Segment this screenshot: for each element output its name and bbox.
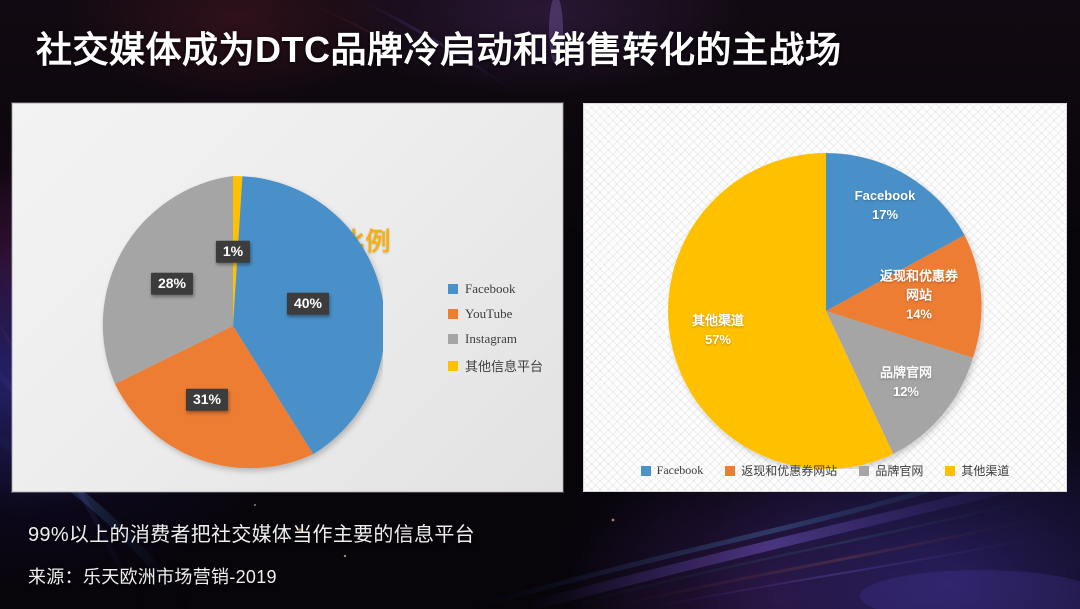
slice-label-other-channels-pct: 57%: [692, 331, 744, 350]
footnote-text: 99%以上的消费者把社交媒体当作主要的信息平台: [28, 518, 475, 547]
legend-swatch-youtube: [448, 309, 458, 319]
slice-label-other-channels: 其他渠道 57%: [692, 312, 744, 350]
slice-label-brand-site-name: 品牌官网: [880, 365, 932, 380]
legend-label-r-cashback: 返现和优惠券网站: [741, 462, 837, 479]
legend-item-instagram[interactable]: Instagram: [448, 331, 543, 347]
right-chart-legend: Facebook 返现和优惠券网站 品牌官网 其他渠道: [583, 462, 1067, 479]
info-channel-pie: [83, 176, 383, 476]
slice-label-cashback-name-line2: 网站: [880, 287, 958, 306]
slide-title-bar: 社交媒体成为DTC品牌冷启动和销售转化的主战场: [0, 14, 1080, 80]
source-text: 来源：乐天欧洲市场营销-2019: [28, 563, 475, 589]
legend-item-facebook[interactable]: Facebook: [448, 281, 543, 297]
slice-label-other-channels-name: 其他渠道: [692, 313, 744, 328]
legend-swatch-other-platforms: [448, 361, 458, 371]
slice-label-facebook-name: Facebook: [855, 188, 916, 203]
slice-callout-other: 1%: [216, 241, 250, 263]
slice-label-facebook: Facebook 17%: [855, 187, 916, 225]
legend-item-r-brand-site[interactable]: 品牌官网: [859, 462, 923, 479]
legend-label-youtube: YouTube: [465, 306, 512, 322]
right-chart-panel: 销售渠道 Facebook 17%: [583, 103, 1067, 492]
legend-label-r-facebook: Facebook: [657, 463, 704, 478]
legend-swatch-r-facebook: [641, 466, 651, 476]
slice-label-cashback-pct: 14%: [880, 305, 958, 324]
left-chart-legend: Facebook YouTube Instagram 其他信息平台: [448, 281, 543, 375]
legend-label-r-brand-site: 品牌官网: [875, 462, 923, 479]
slice-label-cashback-coupon-sites: 返现和优惠券 网站 14%: [880, 268, 958, 325]
legend-swatch-r-other-channels: [945, 466, 955, 476]
page-title: 社交媒体成为DTC品牌冷启动和销售转化的主战场: [36, 21, 842, 73]
legend-swatch-facebook: [448, 284, 458, 294]
legend-swatch-r-cashback: [725, 466, 735, 476]
legend-swatch-instagram: [448, 334, 458, 344]
legend-label-instagram: Instagram: [465, 331, 517, 347]
legend-item-r-cashback[interactable]: 返现和优惠券网站: [725, 462, 837, 479]
slice-label-facebook-pct: 17%: [855, 206, 916, 225]
legend-item-other-platforms[interactable]: 其他信息平台: [448, 356, 543, 375]
slice-callout-instagram: 28%: [151, 273, 193, 295]
legend-label-facebook: Facebook: [465, 281, 516, 297]
slice-callout-youtube: 31%: [186, 389, 228, 411]
legend-item-r-facebook[interactable]: Facebook: [641, 463, 704, 478]
legend-label-r-other-channels: 其他渠道: [961, 462, 1009, 479]
slice-label-cashback-name-line1: 返现和优惠券: [880, 269, 958, 284]
legend-item-r-other-channels[interactable]: 其他渠道: [945, 462, 1009, 479]
slice-label-brand-site: 品牌官网 12%: [880, 364, 932, 402]
slice-label-brand-site-pct: 12%: [880, 383, 932, 402]
legend-swatch-r-brand-site: [859, 466, 869, 476]
legend-label-other-platforms: 其他信息平台: [465, 356, 543, 375]
slide-footer: 99%以上的消费者把社交媒体当作主要的信息平台 来源：乐天欧洲市场营销-2019: [28, 518, 475, 589]
slice-callout-facebook: 40%: [287, 293, 329, 315]
legend-item-youtube[interactable]: YouTube: [448, 306, 543, 322]
